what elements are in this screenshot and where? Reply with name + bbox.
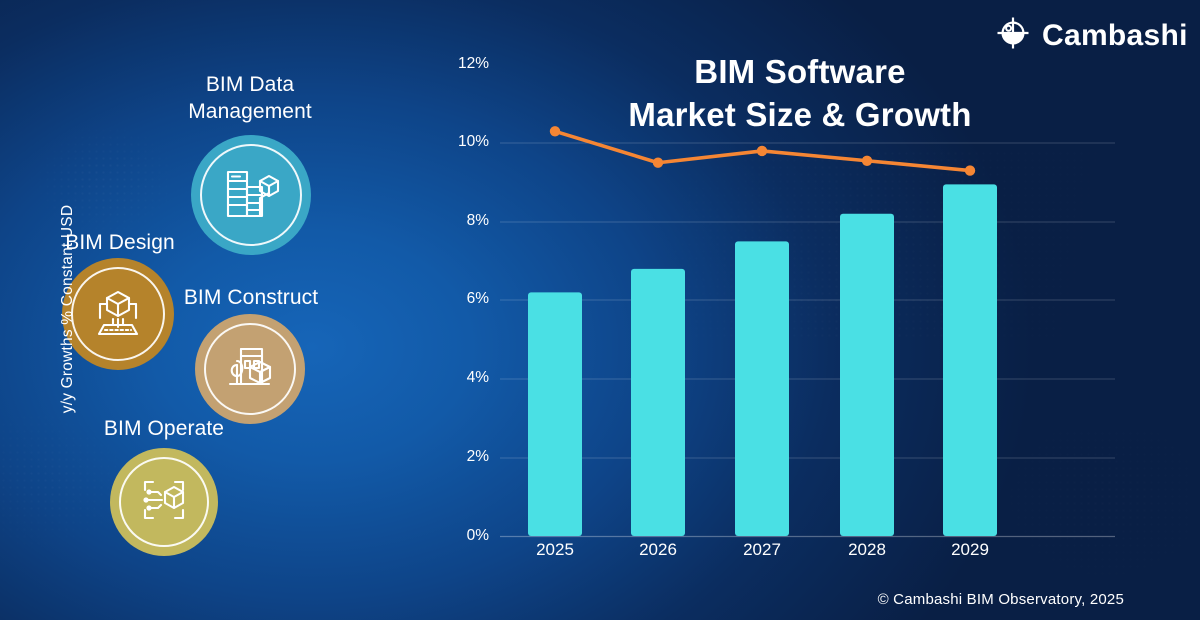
chart-gridlines	[500, 143, 1115, 458]
bar-2027	[735, 241, 789, 536]
growth-point-2026	[653, 158, 663, 168]
bar-series	[528, 184, 997, 536]
bar-2025	[528, 292, 582, 536]
building-tree-cube-icon	[215, 332, 285, 407]
growth-point-2027	[757, 146, 767, 156]
bar-2028	[840, 214, 894, 536]
copyright-footer: © Cambashi BIM Observatory, 2025	[878, 591, 1124, 608]
growth-point-2029	[965, 165, 975, 175]
bar-2029	[943, 184, 997, 536]
infographic-poster: Cambashi BIM Data Management	[0, 0, 1200, 620]
growth-point-2028	[862, 156, 872, 166]
data-racks-cube-icon	[212, 154, 290, 237]
growth-point-2025	[550, 126, 560, 136]
growth-line-series	[550, 126, 975, 176]
bar-2026	[631, 269, 685, 536]
laptop-cube-icon	[82, 276, 154, 353]
iot-network-cube-scan-icon	[129, 465, 199, 540]
